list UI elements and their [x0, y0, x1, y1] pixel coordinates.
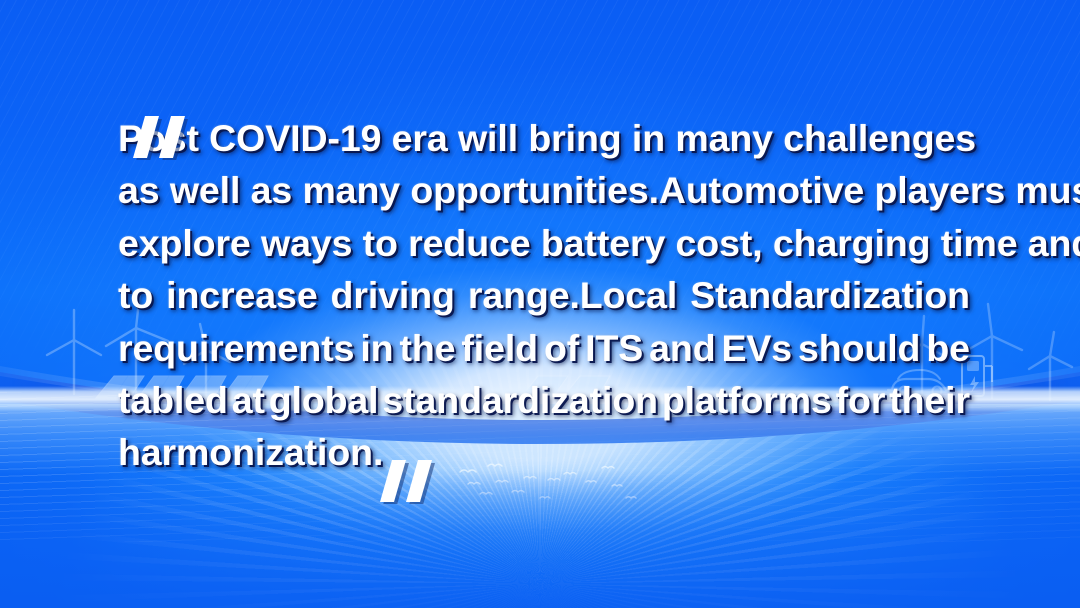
- quote-word: ITS: [585, 322, 643, 374]
- quote-word: tabled: [118, 374, 228, 426]
- quote-line-6: tabledatglobalstandardizationplatformsfo…: [118, 374, 970, 426]
- opening-quote-mark: [131, 114, 193, 160]
- quote-word: Standardization: [690, 269, 970, 321]
- quote-word: for: [836, 374, 886, 426]
- quote-line-4: toincreasedrivingrange.LocalStandardizat…: [118, 269, 970, 321]
- quote-word: be: [926, 322, 970, 374]
- closing-quote-mark: [378, 458, 440, 504]
- quote-word: at: [232, 374, 265, 426]
- quote-word: platforms: [662, 374, 832, 426]
- quote-word: the: [399, 322, 455, 374]
- quote-word: should: [798, 322, 920, 374]
- quote-word: EVs: [721, 322, 792, 374]
- quote-word: standardization: [382, 374, 658, 426]
- quote-line-5: requirementsinthefieldofITSandEVsshouldb…: [118, 322, 970, 374]
- quote-line-1: Post COVID-19 era will bring in many cha…: [118, 112, 970, 164]
- quote-word: requirements: [118, 322, 354, 374]
- quote-word: global: [269, 374, 379, 426]
- quote-word: their: [889, 374, 970, 426]
- quote-word: driving: [331, 269, 455, 321]
- quote-card: Post COVID-19 era will bring in many cha…: [0, 0, 1080, 608]
- quote-word: and: [649, 322, 715, 374]
- quote-word: in: [360, 322, 393, 374]
- quote-word: increase: [166, 269, 317, 321]
- quote-line-7: harmonization.: [118, 426, 970, 478]
- quote-word: of: [544, 322, 579, 374]
- bottom-vignette: [0, 470, 1080, 608]
- quote-word: range.Local: [468, 269, 677, 321]
- quote-word: field: [461, 322, 538, 374]
- quote-line-3: explore ways to reduce battery cost, cha…: [118, 217, 970, 269]
- quote-line-2: as well as many opportunities.Automotive…: [118, 164, 970, 216]
- quote-word: to: [118, 269, 153, 321]
- quote-text-block: Post COVID-19 era will bring in many cha…: [118, 112, 970, 479]
